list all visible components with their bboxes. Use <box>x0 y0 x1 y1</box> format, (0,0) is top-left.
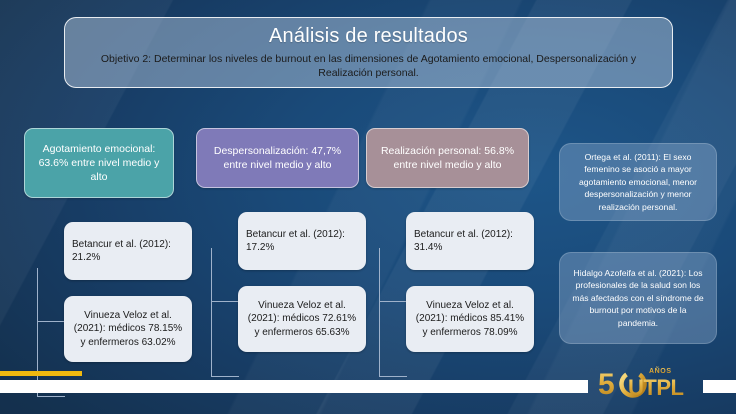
footer-white-band-right <box>703 380 736 393</box>
list-item: Vinueza Veloz et al. (2021): médicos 85.… <box>406 286 534 352</box>
list-item: Vinueza Veloz et al. (2021): médicos 78.… <box>64 296 192 362</box>
svg-text:AÑOS: AÑOS <box>649 366 672 375</box>
title-card: Análisis de resultados Objetivo 2: Deter… <box>64 17 673 88</box>
slide-canvas: Análisis de resultados Objetivo 2: Deter… <box>0 0 736 414</box>
column-agotamiento-emocional: Agotamiento emocional: 63.6% entre nivel… <box>14 128 182 198</box>
list-item: Vinueza Veloz et al. (2021): médicos 72.… <box>238 286 366 352</box>
footer-white-band <box>0 380 588 393</box>
column-despersonalizacion: Despersonalización: 47,7% entre nivel me… <box>196 128 364 188</box>
column-header-realizacion-personal: Realización personal: 56.8% entre nivel … <box>366 128 529 188</box>
list-item-label: Betancur et al. (2012): 17.2% <box>246 228 358 255</box>
list-item: Betancur et al. (2012): 21.2% <box>64 222 192 280</box>
list-item-label: Vinueza Veloz et al. (2021): médicos 85.… <box>414 299 526 340</box>
note-card-ortega: Ortega et al. (2011): El sexo femenino s… <box>559 143 717 221</box>
footer-strip <box>0 393 736 414</box>
footer-gold-bar <box>0 371 82 376</box>
page-title: Análisis de resultados <box>269 23 468 49</box>
list-item: Betancur et al. (2012): 31.4% <box>406 212 534 270</box>
note-card-hidalgo: Hidalgo Azofeifa et al. (2021): Los prof… <box>559 252 717 344</box>
list-item: Betancur et al. (2012): 17.2% <box>238 212 366 270</box>
note-text: Hidalgo Azofeifa et al. (2021): Los prof… <box>570 267 706 329</box>
page-subtitle: Objetivo 2: Determinar los niveles de bu… <box>89 52 649 80</box>
list-item-label: Vinueza Veloz et al. (2021): médicos 72.… <box>246 299 358 340</box>
note-text: Ortega et al. (2011): El sexo femenino s… <box>570 151 706 213</box>
column-header-despersonalizacion: Despersonalización: 47,7% entre nivel me… <box>196 128 359 188</box>
list-item-label: Betancur et al. (2012): 31.4% <box>414 228 526 255</box>
list-item-label: Betancur et al. (2012): 21.2% <box>72 238 184 265</box>
list-item-label: Vinueza Veloz et al. (2021): médicos 78.… <box>72 309 184 350</box>
column-header-agotamiento-emocional: Agotamiento emocional: 63.6% entre nivel… <box>24 128 174 198</box>
column-realizacion-personal: Realización personal: 56.8% entre nivel … <box>366 128 534 188</box>
